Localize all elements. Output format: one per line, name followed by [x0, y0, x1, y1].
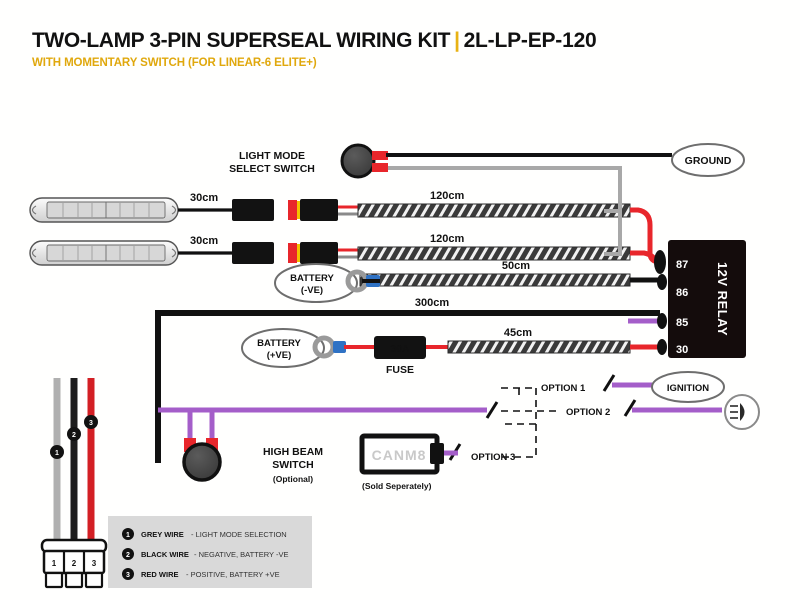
pin-badge-1-label: 1 [55, 450, 59, 457]
connector-lamp2-male [232, 242, 274, 264]
option2-label: OPTION 2 [566, 407, 610, 418]
connector-pin-3: 3 [92, 559, 97, 568]
canm8-module: CANM8 [362, 436, 444, 472]
relay-terminal-87: 87 [676, 259, 688, 271]
pin-badge-3-label: 3 [89, 420, 93, 427]
canm8-label: CANM8 [372, 447, 427, 463]
light-mode-label-line2: SELECT SWITCH [229, 163, 315, 175]
battery-negative-node: BATTERY (-VE) [275, 264, 380, 302]
option3-label: OPTION 3 [471, 452, 515, 463]
legend-desc-3: - POSITIVE, BATTERY +VE [186, 570, 280, 579]
length-ground-run: 50cm [502, 260, 530, 272]
terminal-86-boot [657, 274, 667, 290]
ground-label: GROUND [685, 155, 732, 167]
ignition-label: IGNITION [667, 383, 709, 394]
fuse-rating: 30A [390, 343, 410, 355]
legend-desc-1: - LIGHT MODE SELECTION [191, 530, 287, 539]
length-lamp1-main: 120cm [430, 190, 464, 202]
legend-badge-3-num: 3 [126, 572, 130, 579]
lamp-bar-1 [30, 198, 178, 222]
relay-block: 87 86 85 30 12V RELAY [668, 240, 746, 358]
legend-wire-2: BLACK WIRE [141, 550, 189, 559]
wiring-diagram-page: TWO-LAMP 3-PIN SUPERSEAL WIRING KIT|2L-L… [0, 0, 800, 600]
pin-badge-2-label: 2 [72, 432, 76, 439]
legend-wire-3: RED WIRE [141, 570, 179, 579]
legend-badge-1-num: 1 [126, 532, 130, 539]
superseal-connector-1 [288, 199, 338, 221]
relay-label: 12V RELAY [715, 262, 730, 336]
length-battery-neg-run: 300cm [415, 297, 449, 309]
length-lamp1-lead: 30cm [190, 192, 218, 204]
battery-pos-label-line2: (+VE) [267, 350, 292, 361]
terminal-30-boot [657, 339, 667, 355]
legend-wire-1: GREY WIRE [141, 530, 184, 539]
canm8-note: (Sold Seperately) [362, 481, 432, 491]
option1-label: OPTION 1 [541, 383, 586, 394]
battery-pos-label-line1: BATTERY [257, 338, 301, 349]
fuse-label: FUSE [386, 364, 414, 376]
fuse-holder: 30A [374, 336, 426, 359]
connector-pin-2: 2 [72, 559, 77, 568]
length-lamp2-main: 120cm [430, 233, 464, 245]
high-beam-note: (Optional) [273, 474, 313, 484]
headlight-icon [725, 395, 759, 429]
high-beam-label-line1: HIGH BEAM [263, 446, 323, 458]
length-lamp2-lead: 30cm [190, 235, 218, 247]
legend-panel: 1 GREY WIRE - LIGHT MODE SELECTION 2 BLA… [108, 516, 312, 588]
relay-terminal-86: 86 [676, 287, 688, 299]
ignition-node: IGNITION [652, 372, 724, 402]
sleeved-run-lamp1 [358, 204, 630, 217]
connector-lamp1-male [232, 199, 274, 221]
superseal-connector-2 [288, 242, 338, 264]
length-battery-pos-run: 45cm [504, 327, 532, 339]
pin-bundle: 1 2 3 1 2 3 [42, 378, 106, 587]
relay-terminal-85: 85 [676, 317, 688, 329]
terminal-87-boot [654, 250, 666, 274]
light-mode-select-switch[interactable] [342, 145, 388, 177]
light-mode-label-line1: LIGHT MODE [239, 150, 305, 162]
ground-run-sleeve [360, 274, 630, 286]
connector-pin-1: 1 [52, 559, 57, 568]
lamp-bar-2 [30, 241, 178, 265]
splice-mark-trunk [487, 402, 497, 418]
battery-neg-label-line1: BATTERY [290, 273, 334, 284]
ground-node: GROUND [672, 144, 744, 176]
legend-desc-2: - NEGATIVE, BATTERY -VE [194, 550, 288, 559]
sleeved-run-lamp2 [358, 247, 630, 260]
diagram-canvas: 30cm 30cm 120cm 120cm [0, 0, 800, 600]
battery-positive-sleeve [448, 341, 630, 353]
battery-positive-node: BATTERY (+VE) [242, 329, 346, 367]
relay-terminal-30: 30 [676, 344, 688, 356]
legend-badge-2-num: 2 [126, 552, 130, 559]
battery-neg-label-line2: (-VE) [301, 285, 323, 296]
high-beam-switch[interactable] [184, 444, 220, 480]
terminal-85-boot [657, 313, 667, 329]
high-beam-label-line2: SWITCH [272, 459, 313, 471]
